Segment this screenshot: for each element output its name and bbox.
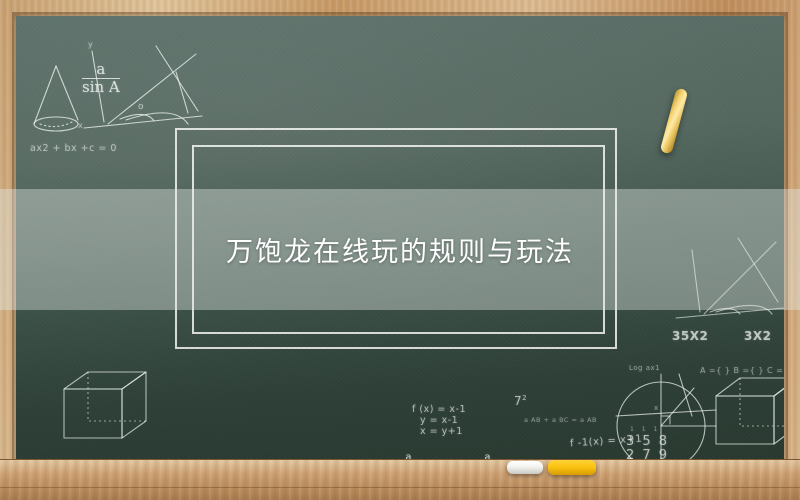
chalk-circle-axis-x-label: x: [654, 404, 659, 412]
tray-chalk-yellow: [548, 460, 596, 475]
chalk-angle-label: o: [138, 102, 144, 112]
chalk-power-seven: 72: [514, 394, 527, 408]
chalk-axis-y-label: y: [88, 40, 93, 49]
chalk-function-line-1: f (x) = x-1: [412, 404, 466, 415]
chalk-addend-one: 3 5 8: [626, 434, 669, 449]
chalk-function-line-3: x = y+1: [420, 426, 463, 437]
chalk-quadratic-equation: ax2 + bx +c = 0: [30, 143, 117, 154]
tray-chalk-white: [507, 461, 543, 474]
chalk-function-line-2: y = x-1: [420, 415, 458, 426]
chalk-multiplication-3x2: 3X2: [744, 329, 771, 343]
chalk-set-notation: A ={ } B ={ } C ={ }: [700, 366, 784, 375]
page-title: 万饱龙在线玩的规则与玩法: [0, 189, 800, 310]
chalk-multiplication-35x2: 35X2: [672, 329, 708, 343]
blackboard-banner: a sin A ax2 + bx +c = 0 y x o 35X2 3X2 L…: [0, 0, 800, 500]
chalk-axis-x-label: x: [78, 121, 83, 130]
chalk-ledge: [0, 459, 800, 500]
chalk-log-label: Log ax1: [629, 364, 660, 372]
chalk-carry-marks: 1 1 1: [630, 426, 660, 433]
chalk-vector-sum: a AB + a BC = a AB: [524, 416, 597, 424]
chalk-law-of-sines-1: a sin A: [82, 62, 120, 95]
ledge-lip: [0, 487, 800, 488]
